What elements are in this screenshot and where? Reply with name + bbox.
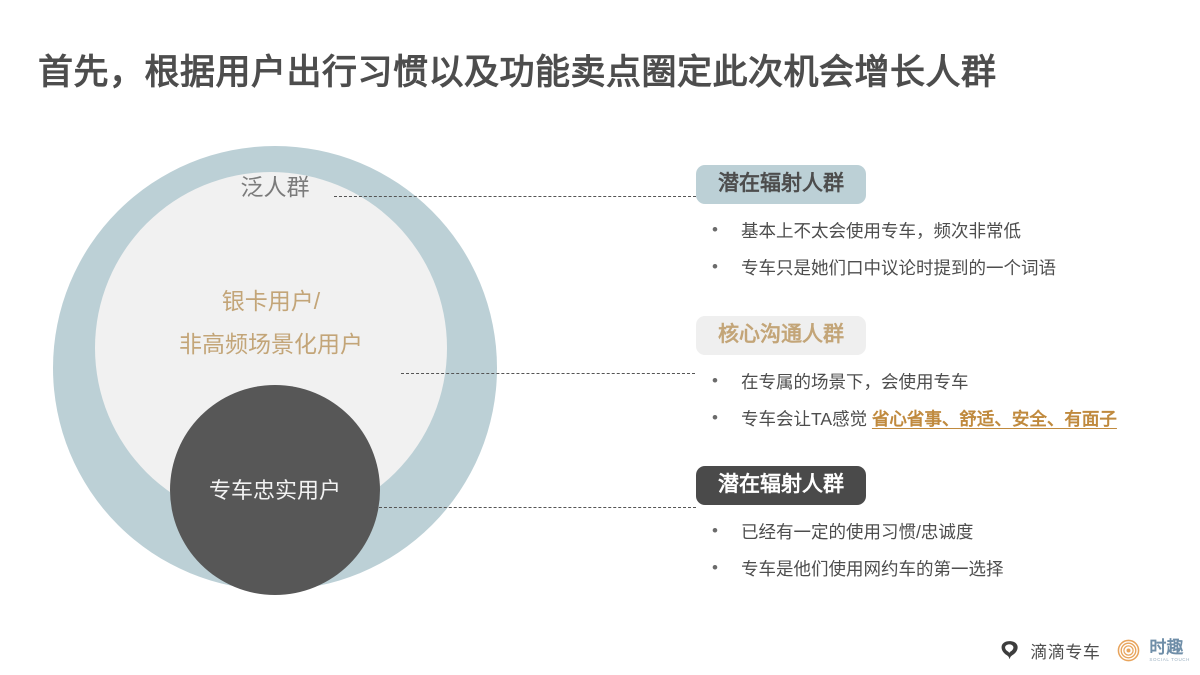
page-title: 首先，根据用户出行习惯以及功能卖点圈定此次机会增长人群 xyxy=(38,44,997,95)
bullet-list-inner: 已经有一定的使用习惯/忠诚度 专车是他们使用网约车的第一选择 xyxy=(696,521,1196,581)
highlighted-benefits: 省心省事、舒适、安全、有面子 xyxy=(872,409,1117,429)
audience-group-potential-inner: 潜在辐射人群 已经有一定的使用习惯/忠诚度 专车是他们使用网约车的第一选择 xyxy=(696,466,1196,597)
connector-line-middle xyxy=(401,373,695,374)
list-item: 专车会让TA感觉 省心省事、舒适、安全、有面子 xyxy=(696,408,1196,432)
middle-circle-label-line2: 非高频场景化用户 xyxy=(0,323,542,366)
middle-circle-label-line1: 银卡用户/ xyxy=(0,280,542,323)
middle-circle-label: 银卡用户/ 非高频场景化用户 xyxy=(0,280,542,366)
list-item: 专车是他们使用网约车的第一选择 xyxy=(696,558,1196,582)
bullet-list-core: 在专属的场景下，会使用专车 专车会让TA感觉 省心省事、舒适、安全、有面子 xyxy=(696,371,1196,431)
badge-potential-audience-outer: 潜在辐射人群 xyxy=(696,165,866,204)
badge-core-communication-audience: 核心沟通人群 xyxy=(696,316,866,355)
shiqu-brand-block: 时趣 SOCIAL TOUCH xyxy=(1149,639,1190,663)
audience-group-core-communication: 核心沟通人群 在专属的场景下，会使用专车 专车会让TA感觉 省心省事、舒适、安全… xyxy=(696,316,1196,447)
audience-group-potential-outer: 潜在辐射人群 基本上不太会使用专车，频次非常低 专车只是她们口中议论时提到的一个… xyxy=(696,165,1196,296)
connector-line-inner xyxy=(374,507,696,508)
inner-circle-label: 专车忠实用户 xyxy=(170,473,380,505)
list-item: 基本上不太会使用专车，频次非常低 xyxy=(696,220,1196,244)
shiqu-logo-icon xyxy=(1117,639,1140,662)
list-item: 专车只是她们口中议论时提到的一个词语 xyxy=(696,257,1196,281)
didi-brand-label: 滴滴专车 xyxy=(1030,638,1100,663)
shiqu-brand-label: 时趣 xyxy=(1149,639,1190,656)
connector-line-outer xyxy=(334,196,696,197)
didi-logo-icon xyxy=(998,639,1021,662)
shiqu-brand-sublabel: SOCIAL TOUCH xyxy=(1149,658,1190,663)
bullet-list-outer: 基本上不太会使用专车，频次非常低 专车只是她们口中议论时提到的一个词语 xyxy=(696,220,1196,280)
list-item: 在专属的场景下，会使用专车 xyxy=(696,371,1196,395)
footer-logos: 滴滴专车 时趣 SOCIAL TOUCH xyxy=(998,638,1190,663)
audience-venn-diagram: 泛人群 银卡用户/ 非高频场景化用户 专车忠实用户 xyxy=(0,120,620,620)
list-item-prefix: 专车会让TA感觉 xyxy=(741,409,872,429)
list-item: 已经有一定的使用习惯/忠诚度 xyxy=(696,521,1196,545)
badge-potential-audience-inner: 潜在辐射人群 xyxy=(696,466,866,505)
